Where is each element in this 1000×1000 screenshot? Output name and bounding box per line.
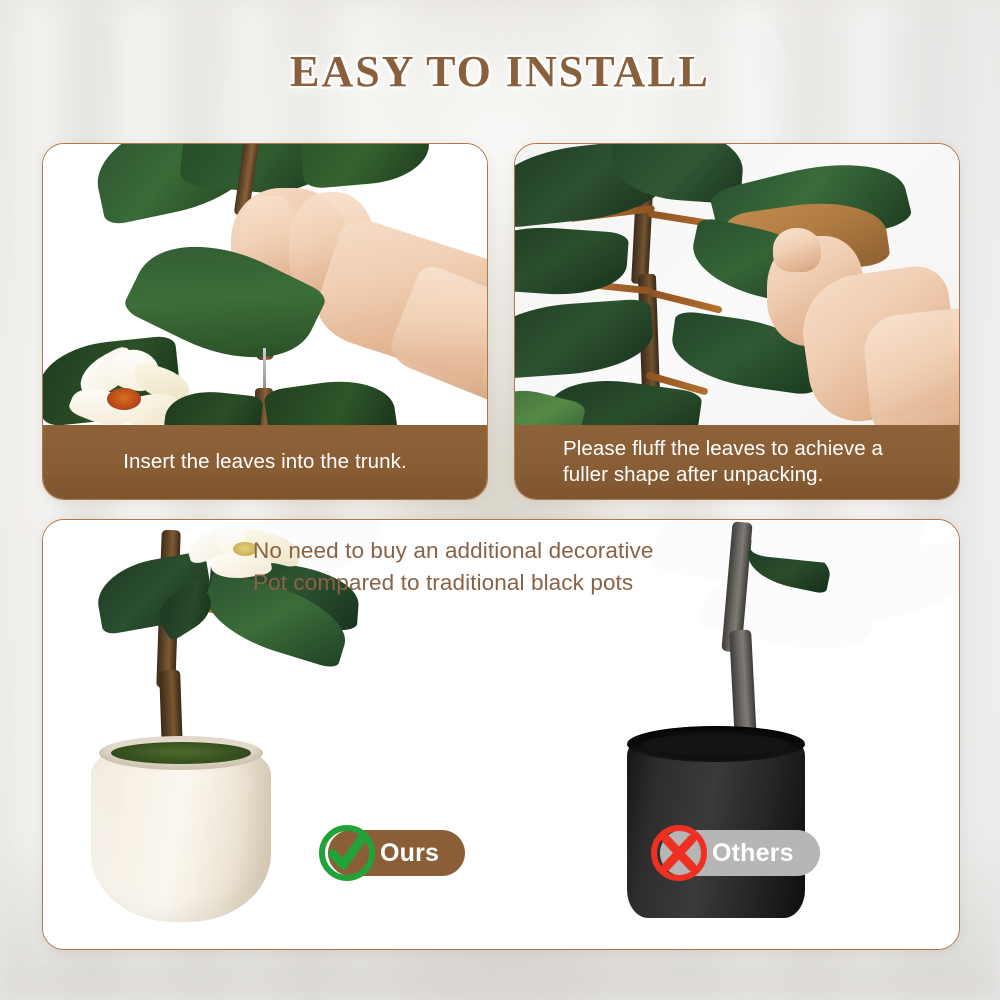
step-panel-insert: Insert the leaves into the trunk.	[42, 143, 488, 500]
others-plant	[603, 520, 959, 949]
moss-soil	[111, 742, 251, 764]
panel-caption: Please fluff the leaves to achieve a ful…	[515, 425, 959, 499]
others-badge-label: Others	[712, 839, 794, 868]
metal-pin	[263, 348, 266, 390]
leaf-shape	[298, 144, 432, 189]
x-circle-icon	[648, 822, 710, 884]
thumb	[773, 228, 821, 272]
petiole	[649, 289, 722, 314]
caption-line: fuller shape after unpacking.	[563, 462, 883, 488]
headline-line: No need to buy an additional decorative	[253, 535, 653, 567]
check-circle-icon	[316, 822, 378, 884]
step-panel-fluff: Please fluff the leaves to achieve a ful…	[514, 143, 960, 500]
leaf-shape	[515, 298, 655, 380]
page-title: EASY TO INSTALL	[0, 46, 1000, 97]
infographic-stage: EASY TO INSTALL	[0, 0, 1000, 1000]
comparison-panel: No need to buy an additional decorative …	[42, 519, 960, 950]
comparison-headline: No need to buy an additional decorative …	[253, 535, 653, 599]
headline-line: Pot compared to traditional black pots	[253, 567, 653, 599]
ours-badge[interactable]: Ours	[328, 830, 465, 876]
wrist	[861, 306, 959, 444]
flower-center	[107, 388, 141, 410]
photo-pot-comparison: No need to buy an additional decorative …	[43, 520, 959, 949]
others-badge[interactable]: Others	[660, 830, 820, 876]
ours-badge-label: Ours	[380, 839, 439, 868]
panel-caption: Insert the leaves into the trunk.	[43, 425, 487, 499]
caption-line: Insert the leaves into the trunk.	[123, 449, 407, 475]
pot-interior	[641, 734, 791, 756]
caption-line: Please fluff the leaves to achieve a	[563, 436, 883, 462]
